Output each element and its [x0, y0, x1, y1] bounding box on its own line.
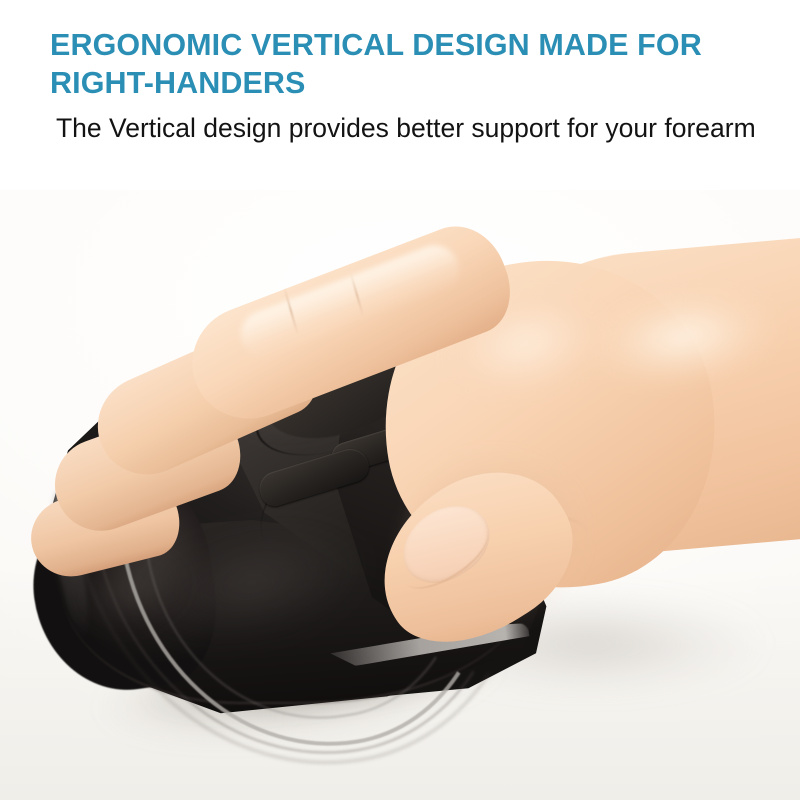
subheadline: The Vertical design provides better supp…	[56, 108, 756, 149]
headline: ERGONOMIC VERTICAL DESIGN MADE FOR RIGHT…	[50, 26, 740, 102]
right-hand	[0, 190, 800, 800]
product-photo	[0, 190, 800, 800]
text-block: ERGONOMIC VERTICAL DESIGN MADE FOR RIGHT…	[0, 0, 800, 210]
product-feature-banner: ERGONOMIC VERTICAL DESIGN MADE FOR RIGHT…	[0, 0, 800, 800]
